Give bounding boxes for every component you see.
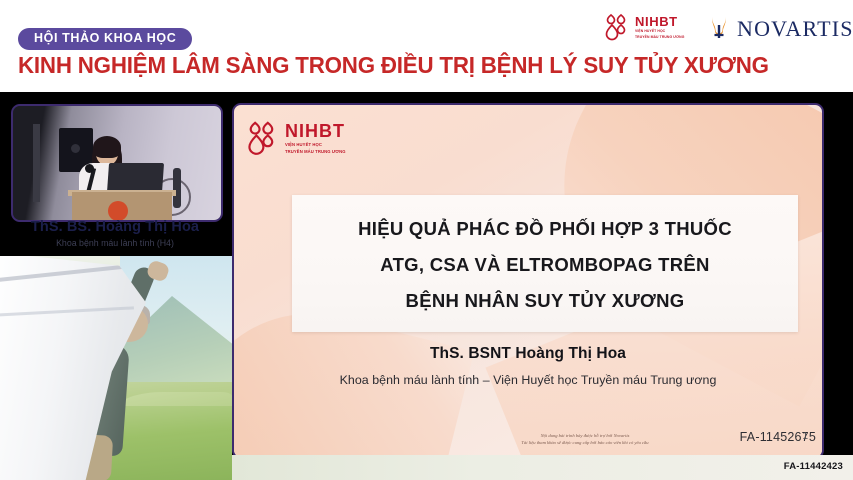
slide-author-affiliation: Khoa bệnh máu lành tính – Viện Huyết học… (234, 373, 822, 387)
slide-footnote: Nội dung bài trình bày được hỗ trợ bởi N… (430, 433, 740, 446)
nihbt-subtitle-line2: TRUYỀN MÁU TRUNG ƯƠNG (635, 35, 684, 39)
blood-drop-icon (246, 119, 282, 157)
slide-footnote-line-2: Tài liệu tham khảo sẽ được cung cấp bởi … (430, 440, 740, 447)
video-mic-stand (173, 168, 181, 208)
video-player-screen: HỘI THẢO KHOA HỌC KINH NGHIỆM LÂM SÀNG T… (0, 0, 853, 480)
video-loudspeaker-cone (71, 144, 80, 153)
speaker-video[interactable] (11, 104, 223, 222)
footer-material-code: FA-11442423 (784, 461, 843, 472)
decorative-photo (0, 256, 232, 480)
nihbt-subtitle-slide-line1: VIỆN HUYẾT HỌC (285, 142, 346, 147)
slide-title-line-2: ATG, CSA VÀ ELTROMBOPAG TRÊN (292, 256, 798, 275)
novartis-logo: NOVARTIS (708, 14, 848, 44)
slide-page-number: 1 (802, 431, 808, 442)
event-header: HỘI THẢO KHOA HỌC KINH NGHIỆM LÂM SÀNG T… (0, 0, 853, 92)
nihbt-logo-text: NIHBT VIỆN HUYẾT HỌC TRUYỀN MÁU TRUNG ƯƠ… (635, 15, 684, 40)
video-laptop (107, 163, 164, 193)
nihbt-subtitle-slide-line2: TRUYỀN MÁU TRUNG ƯƠNG (285, 149, 346, 154)
nihbt-logo-slide: NIHBT VIỆN HUYẾT HỌC TRUYỀN MÁU TRUNG ƯƠ… (246, 119, 346, 157)
nihbt-acronym-slide: NIHBT (285, 122, 346, 140)
presentation-slide[interactable]: NIHBT VIỆN HUYẾT HỌC TRUYỀN MÁU TRUNG ƯƠ… (232, 103, 824, 459)
novartis-flame-icon (708, 14, 730, 45)
video-podium-emblem (108, 201, 128, 221)
event-badge: HỘI THẢO KHOA HỌC (18, 28, 192, 50)
nihbt-logo-header: NIHBT VIỆN HUYẾT HỌC TRUYỀN MÁU TRUNG ƯƠ… (604, 12, 700, 44)
slide-title-line-1: HIỆU QUẢ PHÁC ĐỒ PHỐI HỢP 3 THUỐC (292, 220, 798, 239)
nihbt-subtitle-line1: VIỆN HUYẾT HỌC (635, 29, 684, 33)
novartis-wordmark: NOVARTIS (737, 16, 853, 42)
video-presenter-hair (93, 136, 121, 158)
nihbt-logo-text-slide: NIHBT VIỆN HUYẾT HỌC TRUYỀN MÁU TRUNG ƯƠ… (285, 122, 346, 154)
slide-material-code: FA-11452675 (696, 430, 816, 444)
bottom-strip (232, 455, 853, 480)
speaker-caption: ThS. BS. Hoàng Thị Hoa Khoa bệnh máu làn… (11, 220, 219, 248)
blood-drop-icon (604, 12, 632, 42)
video-microphone-head (85, 164, 94, 173)
nihbt-acronym: NIHBT (635, 15, 684, 28)
speaker-role: Khoa bệnh máu lành tính (H4) (11, 238, 219, 249)
slide-footnote-line-1: Nội dung bài trình bày được hỗ trợ bởi N… (430, 433, 740, 440)
video-pole (33, 124, 40, 202)
photo-sheet-fold-2 (0, 306, 134, 316)
speaker-name: ThS. BS. Hoàng Thị Hoa (11, 220, 219, 236)
event-title: KINH NGHIỆM LÂM SÀNG TRONG ĐIỀU TRỊ BỆNH… (18, 54, 769, 77)
slide-title-line-3: BỆNH NHÂN SUY TỦY XƯƠNG (292, 292, 798, 311)
slide-content: NIHBT VIỆN HUYẾT HỌC TRUYỀN MÁU TRUNG ƯƠ… (234, 105, 822, 457)
slide-title-card: HIỆU QUẢ PHÁC ĐỒ PHỐI HỢP 3 THUỐC ATG, C… (292, 195, 798, 332)
slide-author-name: ThS. BSNT Hoàng Thị Hoa (234, 345, 822, 363)
